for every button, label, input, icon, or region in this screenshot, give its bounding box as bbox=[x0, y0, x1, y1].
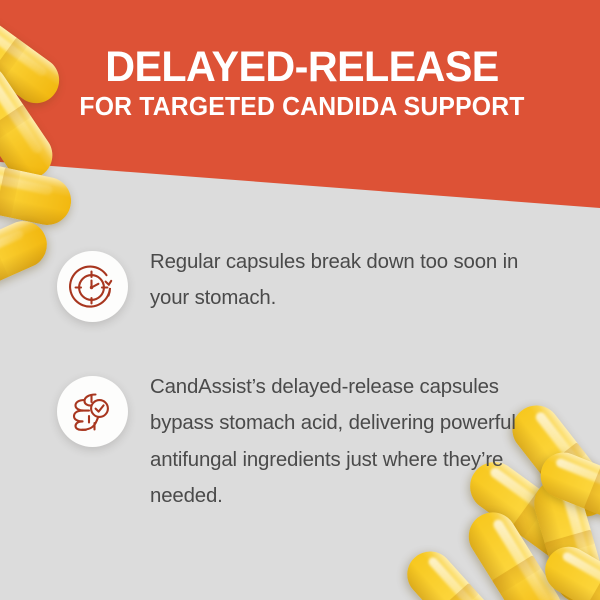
promo-graphic: DELAYED-RELEASE FOR TARGETED CANDIDA SUP… bbox=[0, 0, 600, 600]
feature-row: CandAssist’s delayed-release capsules by… bbox=[0, 363, 600, 514]
clock-rotate-icon bbox=[57, 251, 128, 322]
feature-text: Regular capsules break down too soon in … bbox=[150, 238, 522, 317]
feature-row: Regular capsules break down too soon in … bbox=[0, 238, 600, 322]
intestine-check-icon bbox=[57, 376, 128, 447]
header-band bbox=[0, 0, 600, 215]
feature-list: Regular capsules break down too soon in … bbox=[0, 238, 600, 514]
capsule bbox=[460, 503, 571, 600]
feature-text: CandAssist’s delayed-release capsules by… bbox=[150, 363, 522, 514]
capsule bbox=[537, 538, 600, 600]
capsule bbox=[398, 542, 512, 600]
